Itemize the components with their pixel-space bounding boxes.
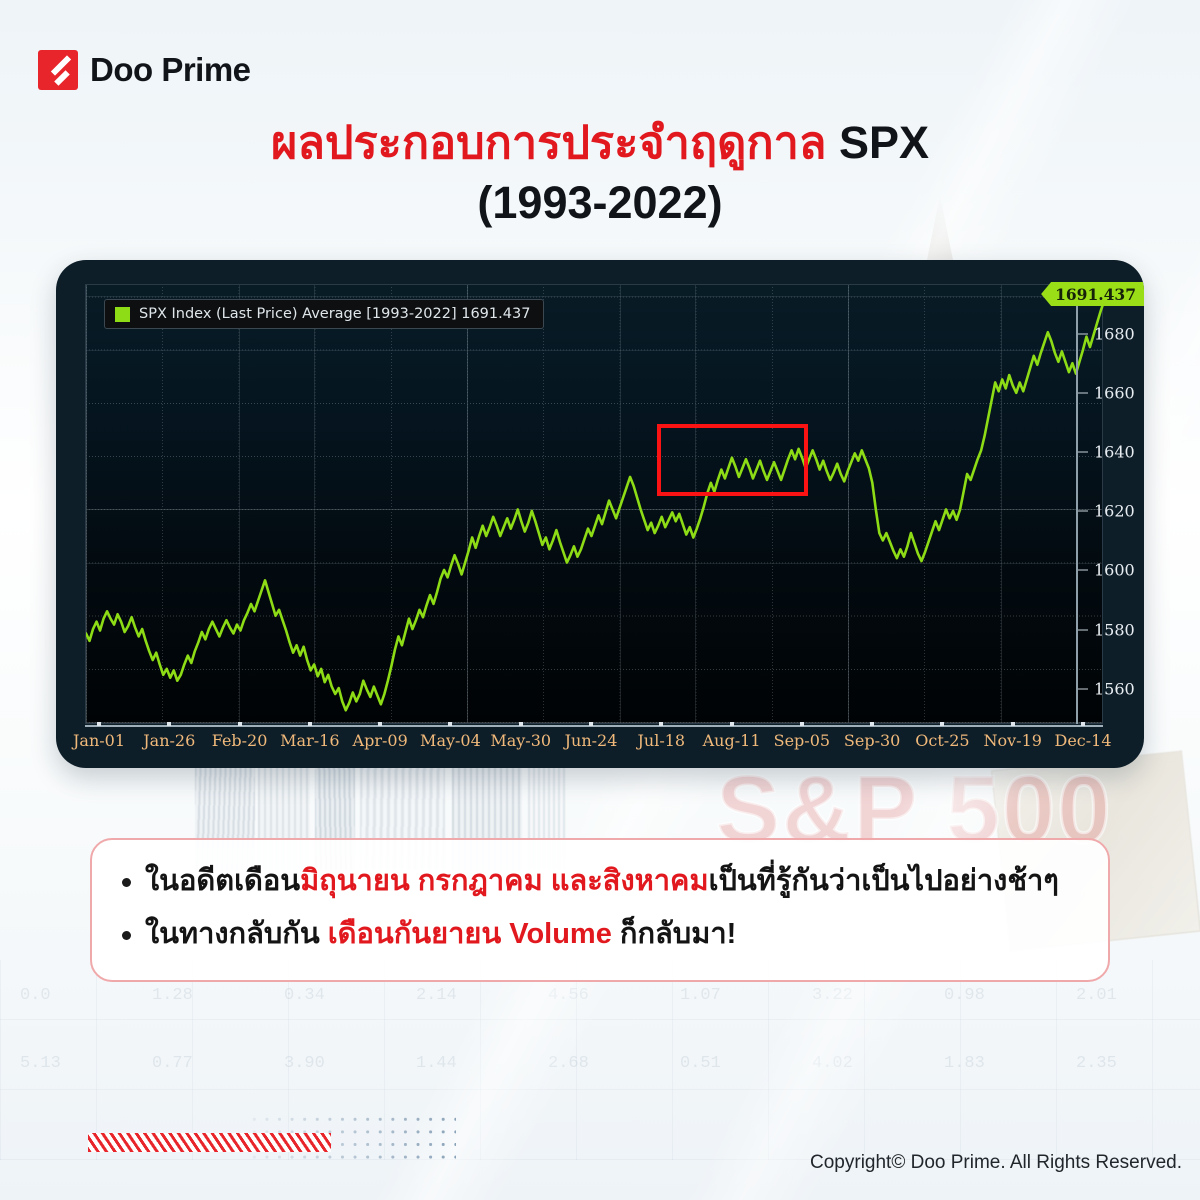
x-axis-tick <box>940 722 944 726</box>
copyright-text: Copyright© Doo Prime. All Rights Reserve… <box>810 1152 1182 1174</box>
bullet-dot-icon <box>122 931 131 940</box>
page-title-ticker: SPX <box>839 117 929 168</box>
x-axis-tick <box>238 722 242 726</box>
x-axis-tick-label: May-04 <box>420 731 481 750</box>
brand-name: Doo Prime <box>90 51 251 89</box>
x-axis-tick-label: Jul-18 <box>637 731 685 750</box>
y-axis-tick <box>1078 511 1088 512</box>
x-axis-tick <box>167 722 171 726</box>
page-title-years: (1993-2022) <box>0 173 1200 233</box>
y-axis-tick <box>1078 570 1088 571</box>
callout-bullet-item: ในทางกลับกัน เดือนกันยายน Volume ก็กลับม… <box>122 915 1078 954</box>
highlight-rectangle-annotation <box>657 424 808 496</box>
x-axis-tick-label: Oct-25 <box>915 731 969 750</box>
last-value-badge: 1691.437 <box>1041 282 1144 306</box>
x-axis-tick-label: Jan-26 <box>143 731 195 750</box>
bullet-dot-icon <box>122 878 131 887</box>
callout-plain-text: ในอดีตเดือน <box>145 865 300 897</box>
callout-text: ในทางกลับกัน เดือนกันยายน Volume ก็กลับม… <box>145 915 736 954</box>
spx-line-series <box>86 285 1104 725</box>
x-axis-tick-label: Sep-05 <box>774 731 830 750</box>
x-axis-tick <box>97 722 101 726</box>
callout-plain-text: ในทางกลับกัน <box>145 918 328 950</box>
y-axis-tick-label: 1660 <box>1094 384 1135 403</box>
y-axis-tick-label: 1600 <box>1094 561 1135 580</box>
x-axis-tick-label: Apr-09 <box>353 731 408 750</box>
x-axis-tick <box>1011 722 1015 726</box>
callout-text: ในอดีตเดือนมิถุนายน กรกฎาคม และสิงหาคมเป… <box>145 862 1059 901</box>
x-axis-tick-label: Aug-11 <box>703 731 761 750</box>
chart-panel: SPX Index (Last Price) Average [1993-202… <box>56 260 1144 768</box>
y-axis-tick <box>1078 688 1088 689</box>
callout-bullet-item: ในอดีตเดือนมิถุนายน กรกฎาคม และสิงหาคมเป… <box>122 862 1078 901</box>
x-axis-tick-label: Sep-30 <box>844 731 900 750</box>
x-axis-tick <box>870 722 874 726</box>
callout-box: ในอดีตเดือนมิถุนายน กรกฎาคม และสิงหาคมเป… <box>90 838 1110 982</box>
x-axis-tick-label: Jan-01 <box>73 731 125 750</box>
x-axis-tick <box>800 722 804 726</box>
x-axis-tick <box>448 722 452 726</box>
x-axis-tick-label: Dec-14 <box>1054 731 1111 750</box>
doo-prime-flag-logo-icon <box>38 50 78 90</box>
chart-legend: SPX Index (Last Price) Average [1993-202… <box>104 299 544 329</box>
chart-plot-area: SPX Index (Last Price) Average [1993-202… <box>85 284 1103 724</box>
x-axis-tick <box>730 722 734 726</box>
y-axis-tick <box>1078 452 1088 453</box>
x-axis-tick-label: Jun-24 <box>565 731 618 750</box>
x-axis-tick-label: May-30 <box>490 731 551 750</box>
x-axis-tick-label: Mar-16 <box>280 731 339 750</box>
brand-logo: Doo Prime <box>38 50 251 90</box>
y-axis-tick-label: 1560 <box>1094 679 1135 698</box>
callout-plain-text: เป็นที่รู้กันว่าเป็นไปอย่างช้าๆ <box>709 865 1059 897</box>
y-axis-tick-label: 1640 <box>1094 443 1135 462</box>
callout-accent-text: เดือนกันยายน Volume <box>328 918 612 950</box>
callout-accent-text: มิถุนายน กรกฎาคม และสิงหาคม <box>300 865 709 897</box>
y-axis-tick <box>1078 393 1088 394</box>
x-axis-tick <box>519 722 523 726</box>
chart-x-axis: Jan-01Jan-26Feb-20Mar-16Apr-09May-04May-… <box>85 725 1103 755</box>
y-axis-tick-label: 1680 <box>1094 325 1135 344</box>
page-title: ผลประกอบการประจำฤดูกาล SPX (1993-2022) <box>0 113 1200 233</box>
legend-label: SPX Index (Last Price) Average [1993-202… <box>139 306 530 322</box>
x-axis-tick <box>378 722 382 726</box>
y-axis-line <box>1076 284 1078 724</box>
y-axis-tick <box>1078 629 1088 630</box>
y-axis-tick <box>1078 334 1088 335</box>
y-axis-tick-label: 1620 <box>1094 502 1135 521</box>
legend-color-swatch <box>115 307 130 322</box>
x-axis-tick-label: Feb-20 <box>212 731 268 750</box>
callout-plain-text: ก็กลับมา! <box>612 918 736 950</box>
decorative-red-stripes <box>88 1133 331 1152</box>
x-axis-tick <box>589 722 593 726</box>
x-axis-tick <box>308 722 312 726</box>
y-axis-tick-label: 1580 <box>1094 620 1135 639</box>
page-title-thai: ผลประกอบการประจำฤดูกาล <box>271 117 826 168</box>
x-axis-tick-label: Nov-19 <box>983 731 1041 750</box>
chart-y-axis: 1680166016401620160015801560 <box>1074 284 1144 724</box>
x-axis-tick <box>1081 722 1085 726</box>
x-axis-tick <box>659 722 663 726</box>
